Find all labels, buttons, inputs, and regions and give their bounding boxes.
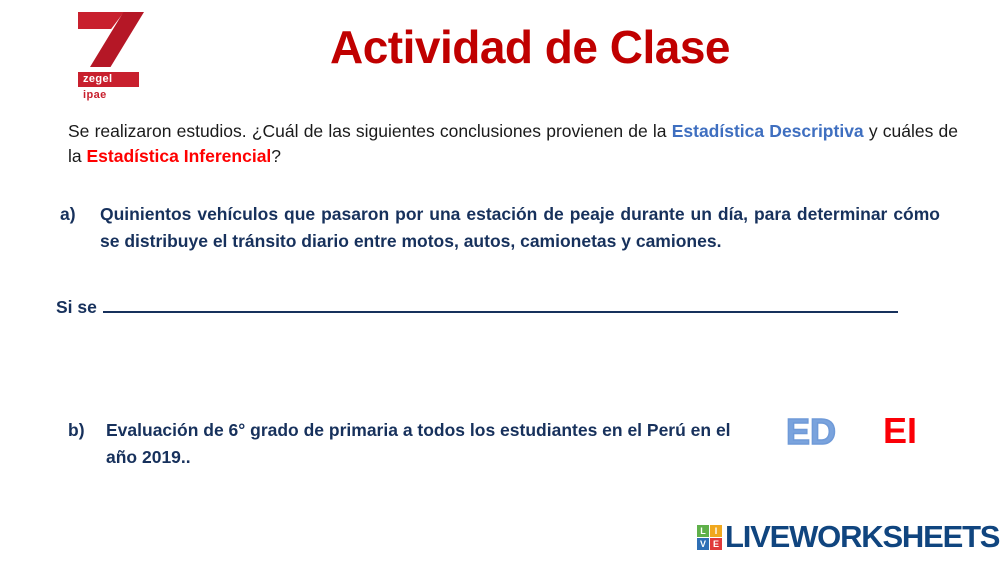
term-estadistica-descriptiva: Estadística Descriptiva — [672, 121, 864, 141]
question-a-marker: a) — [60, 201, 76, 228]
question-a-text: Quinientos vehículos que pasaron por una… — [100, 201, 940, 255]
fill-in-the-blank-row: Si se — [56, 296, 936, 318]
intro-text-part1: Se realizaron estudios. ¿Cuál de las sig… — [68, 121, 672, 141]
lw-tile-e: E — [710, 538, 722, 550]
answer-token-ed[interactable]: ED — [786, 412, 836, 452]
fill-in-prefix-label: Si se — [56, 296, 97, 318]
fill-in-blank-input[interactable] — [103, 297, 898, 313]
intro-text-part3: ? — [271, 146, 281, 166]
answer-token-ei[interactable]: EI — [883, 411, 917, 451]
question-item-b: b) Evaluación de 6° grado de primaria a … — [68, 417, 768, 471]
liveworksheets-tile-grid: L I V E — [697, 525, 722, 550]
question-b-marker: b) — [68, 417, 85, 444]
lw-tile-l: L — [697, 525, 709, 537]
liveworksheets-logo: L I V E LIVEWORKSHEETS — [697, 519, 999, 555]
term-estadistica-inferencial: Estadística Inferencial — [86, 146, 271, 166]
brand-name-top: zegel — [78, 72, 139, 87]
brand-name-bottom: ipae — [83, 89, 107, 102]
liveworksheets-wordmark: LIVEWORKSHEETS — [725, 520, 999, 554]
lw-tile-i: I — [710, 525, 722, 537]
intro-paragraph: Se realizaron estudios. ¿Cuál de las sig… — [68, 119, 958, 169]
page-title: Actividad de Clase — [0, 20, 1000, 74]
worksheet-page: zegel ipae Actividad de Clase Se realiza… — [0, 0, 1000, 562]
answer-token-group: ED EI — [786, 412, 946, 456]
question-b-text: Evaluación de 6° grado de primaria a tod… — [106, 417, 756, 471]
lw-tile-v: V — [697, 538, 709, 550]
question-item-a: a) Quinientos vehículos que pasaron por … — [60, 201, 940, 255]
